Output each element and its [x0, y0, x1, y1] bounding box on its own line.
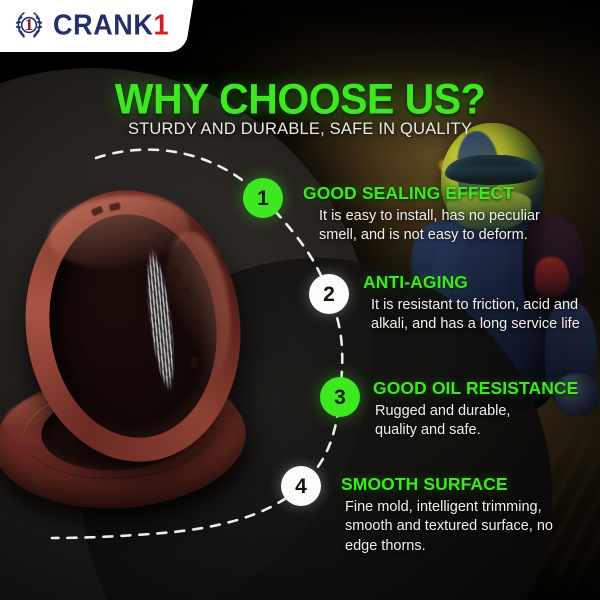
why-choose-us-infographic: 1 CRANK1 WHY CHOOSE US? STURDY AND DURAB… [0, 0, 600, 600]
laurel-wreath-icon: 1 [12, 8, 46, 42]
feature-marker-2: 2 [309, 274, 349, 314]
feature-body-line: alkali, and has a long service life [371, 315, 580, 334]
emblem-number: 1 [12, 8, 46, 42]
feature-heading-2: ANTI-AGING [363, 272, 580, 293]
feature-body-1: It is easy to install, has no peculiar s… [303, 207, 540, 246]
feature-item-1: GOOD SEALING EFFECT It is easy to instal… [303, 183, 540, 246]
feature-body-3: Rugged and durable, quality and safe. [373, 402, 578, 441]
brand-name-main: CRANK [53, 9, 154, 41]
feature-body-line: smooth and textured surface, no [345, 517, 553, 536]
brand-logo-banner[interactable]: 1 CRANK1 [0, 0, 195, 52]
feature-heading-1: GOOD SEALING EFFECT [303, 183, 540, 204]
feature-marker-4: 4 [281, 466, 321, 506]
feature-heading-4: SMOOTH SURFACE [341, 474, 553, 495]
feature-item-3: GOOD OIL RESISTANCE Rugged and durable, … [373, 378, 578, 441]
page-subtitle: STURDY AND DURABLE, SAFE IN QUALITY [0, 120, 600, 139]
oil-seal-marking [191, 357, 199, 368]
oil-seal-upright [10, 178, 256, 474]
brand-wordmark: CRANK1 [53, 11, 169, 40]
page-title: WHY CHOOSE US? [0, 75, 600, 124]
feature-body-line: smell, and is not easy to deform. [319, 226, 540, 245]
feature-body-line: It is resistant to friction, acid and [371, 296, 580, 315]
feature-body-line: Rugged and durable, [375, 402, 578, 421]
brand-name-accent: 1 [154, 9, 170, 41]
feature-body-4: Fine mold, intelligent trimming, smooth … [341, 498, 553, 556]
feature-body-line: edge thorns. [345, 537, 553, 556]
feature-body-2: It is resistant to friction, acid and al… [363, 296, 580, 335]
feature-body-line: It is easy to install, has no peculiar [319, 207, 540, 226]
feature-marker-3: 3 [320, 377, 360, 417]
feature-heading-3: GOOD OIL RESISTANCE [373, 378, 578, 399]
feature-marker-1: 1 [243, 178, 283, 218]
feature-body-line: quality and safe. [375, 421, 578, 440]
oil-seal-product-image [0, 190, 266, 530]
feature-body-line: Fine mold, intelligent trimming, [345, 498, 553, 517]
feature-item-4: SMOOTH SURFACE Fine mold, intelligent tr… [341, 474, 553, 556]
feature-item-2: ANTI-AGING It is resistant to friction, … [363, 272, 580, 335]
